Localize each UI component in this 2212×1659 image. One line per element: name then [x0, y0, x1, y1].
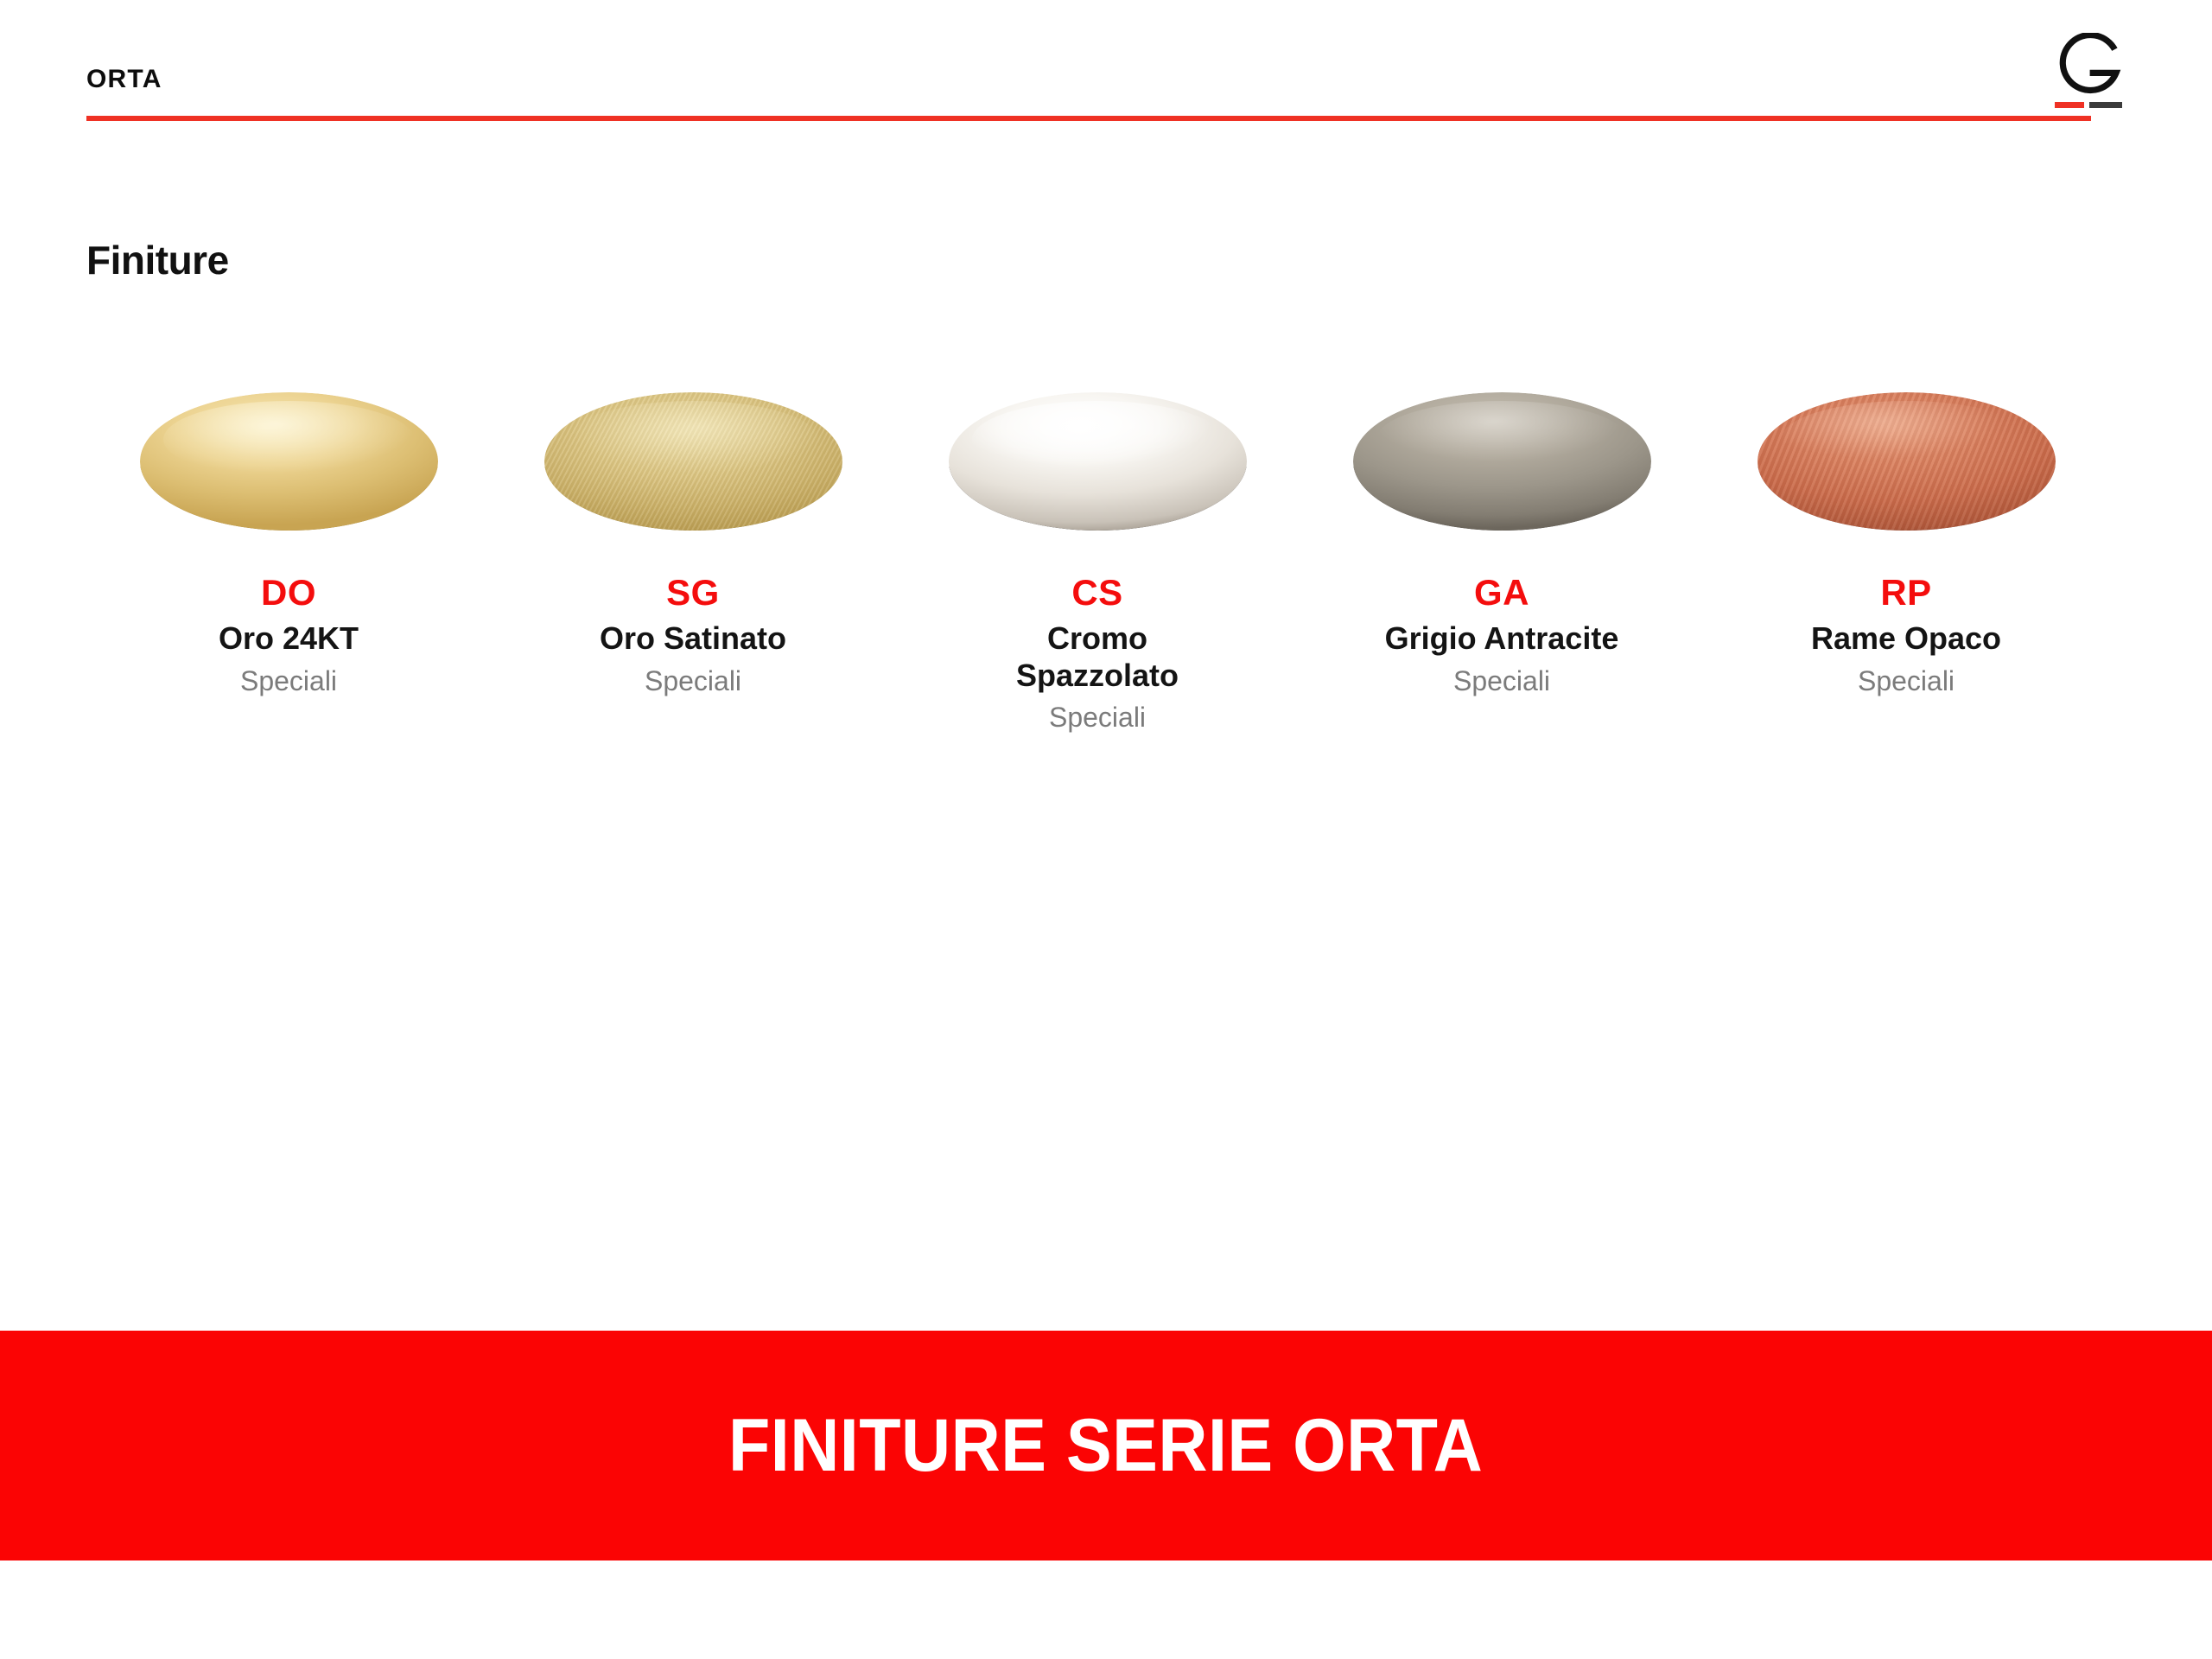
finish-item-ga[interactable]: GA Grigio Antracite Speciali: [1300, 387, 1704, 697]
finish-swatch-oro-24kt[interactable]: [140, 387, 438, 536]
disc-rame-opaco: [1758, 392, 2056, 531]
finishes-grid: DO Oro 24KT Speciali SG Oro Satinato Spe…: [86, 387, 2108, 734]
finish-name: Grigio Antracite: [1385, 620, 1619, 657]
disc-oro-24kt: [140, 392, 438, 531]
finish-code: CS: [1071, 574, 1122, 612]
header-divider: [86, 116, 2091, 121]
disc-face: [949, 392, 1247, 531]
finish-item-sg[interactable]: SG Oro Satinato Speciali: [491, 387, 895, 697]
finish-group: Speciali: [645, 664, 741, 697]
footer-title: FINITURE SERIE ORTA: [728, 1408, 1483, 1483]
finish-name: Oro 24KT: [219, 620, 359, 657]
finish-item-cs[interactable]: CS Cromo Spazzolato Speciali: [895, 387, 1300, 734]
company-logo: [2051, 38, 2134, 112]
disc-cromo-spazzolato: [949, 392, 1247, 531]
slide-root: ORTA Finiture DO Oro 24KT Speciali: [0, 0, 2212, 1659]
logo-g-icon: [2051, 33, 2126, 102]
disc-face: [1353, 392, 1651, 531]
finish-code: GA: [1474, 574, 1529, 612]
disc-face: [140, 392, 438, 531]
page-title: ORTA: [86, 67, 162, 92]
disc-face: [544, 392, 842, 531]
slide-header: ORTA: [0, 0, 2212, 130]
section-title-finiture: Finiture: [86, 240, 229, 280]
disc-oro-satinato: [544, 392, 842, 531]
finish-swatch-oro-satinato[interactable]: [544, 387, 842, 536]
finish-group: Speciali: [1453, 664, 1550, 697]
finish-item-rp[interactable]: RP Rame Opaco Speciali: [1704, 387, 2108, 697]
finish-name: Cromo Spazzolato: [968, 620, 1227, 694]
disc-face: [1758, 392, 2056, 531]
finish-group: Speciali: [1049, 701, 1146, 734]
finish-code: SG: [666, 574, 720, 612]
logo-accent-bar-dark: [2089, 102, 2122, 108]
finish-group: Speciali: [1858, 664, 1955, 697]
finish-name: Oro Satinato: [600, 620, 786, 657]
finish-code: RP: [1880, 574, 1931, 612]
footer-banner: FINITURE SERIE ORTA: [0, 1331, 2212, 1560]
finish-swatch-grigio-antracite[interactable]: [1353, 387, 1651, 536]
finish-group: Speciali: [240, 664, 337, 697]
logo-accent-bar-red: [2055, 102, 2084, 108]
finish-swatch-rame-opaco[interactable]: [1758, 387, 2056, 536]
finish-code: DO: [261, 574, 316, 612]
disc-grigio-antracite: [1353, 392, 1651, 531]
finish-swatch-cromo-spazzolato[interactable]: [949, 387, 1247, 536]
finish-item-do[interactable]: DO Oro 24KT Speciali: [86, 387, 491, 697]
finish-name: Rame Opaco: [1811, 620, 2001, 657]
